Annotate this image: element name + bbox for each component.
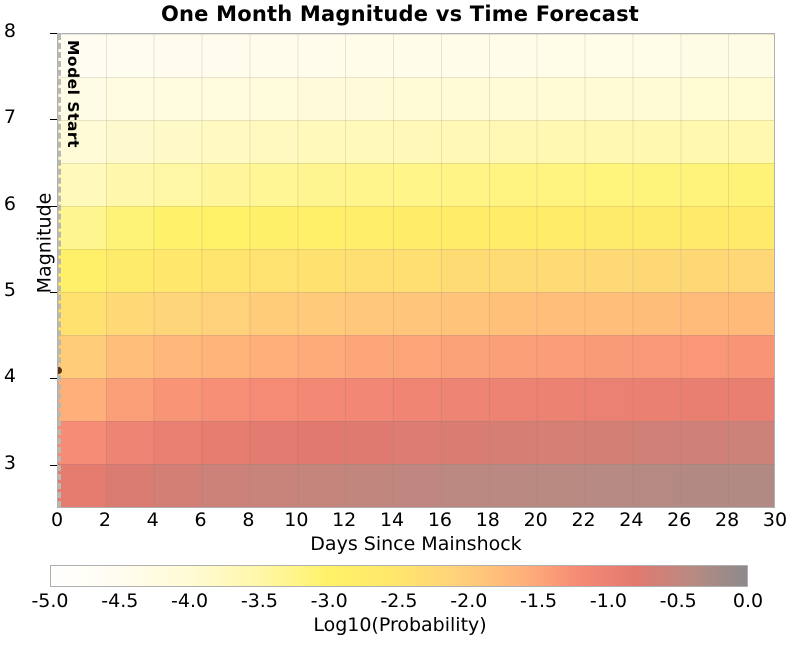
heatmap-cell <box>583 335 631 378</box>
heatmap-cell <box>344 249 392 292</box>
heatmap-cell <box>58 464 106 507</box>
heatmap-cell <box>631 34 679 77</box>
colorbar-tick-label: -5.0 <box>15 590 85 612</box>
heatmap-cell <box>58 421 106 464</box>
heatmap-plot-area: Model Start <box>57 33 775 508</box>
heatmap-cell <box>58 163 106 206</box>
heatmap-cell <box>344 421 392 464</box>
y-axis-tick-label: 6 <box>0 193 16 215</box>
heatmap-cell <box>631 77 679 120</box>
heatmap-cell <box>344 335 392 378</box>
colorbar-gradient <box>50 565 748 587</box>
heatmap-cell <box>535 77 583 120</box>
heatmap-cell <box>106 34 154 77</box>
heatmap-cell <box>249 34 297 77</box>
heatmap-cell <box>58 206 106 249</box>
colorbar-tick-label: -3.0 <box>294 590 364 612</box>
heatmap-cell <box>344 120 392 163</box>
heatmap-cell <box>392 292 440 335</box>
heatmap-cell <box>392 464 440 507</box>
heatmap-cell <box>488 249 536 292</box>
heatmap-cell <box>440 335 488 378</box>
heatmap-cell <box>249 249 297 292</box>
heatmap-cell <box>631 163 679 206</box>
heatmap-cell <box>679 249 727 292</box>
heatmap-cell <box>392 77 440 120</box>
heatmap-cells <box>58 34 774 507</box>
heatmap-cell <box>679 335 727 378</box>
heatmap-cell <box>488 77 536 120</box>
heatmap-cell <box>153 292 201 335</box>
heatmap-cell <box>535 120 583 163</box>
heatmap-cell <box>201 335 249 378</box>
y-axis-tick-mark <box>50 378 57 379</box>
heatmap-cell <box>631 464 679 507</box>
heatmap-cell <box>201 249 249 292</box>
heatmap-cell <box>440 77 488 120</box>
heatmap-cell <box>535 421 583 464</box>
heatmap-cell <box>392 206 440 249</box>
heatmap-cell <box>249 335 297 378</box>
heatmap-cell <box>583 120 631 163</box>
heatmap-cell <box>631 335 679 378</box>
y-axis-tick-mark <box>50 465 57 466</box>
heatmap-cell <box>153 34 201 77</box>
heatmap-cell <box>249 163 297 206</box>
heatmap-cell <box>440 378 488 421</box>
colorbar-tick-label: -1.5 <box>504 590 574 612</box>
heatmap-cell <box>297 77 345 120</box>
heatmap-cell <box>535 163 583 206</box>
heatmap-cell <box>440 34 488 77</box>
heatmap-cell <box>249 206 297 249</box>
heatmap-cell <box>440 421 488 464</box>
heatmap-cell <box>726 120 774 163</box>
y-axis-tick-mark <box>50 206 57 207</box>
colorbar-tick-label: -4.5 <box>85 590 155 612</box>
heatmap-cell <box>249 292 297 335</box>
heatmap-cell <box>488 206 536 249</box>
heatmap-cell <box>249 120 297 163</box>
heatmap-cell <box>726 292 774 335</box>
heatmap-cell <box>488 163 536 206</box>
heatmap-cell <box>488 292 536 335</box>
y-axis-tick-label: 7 <box>0 106 16 128</box>
heatmap-cell <box>106 249 154 292</box>
heatmap-cell <box>297 464 345 507</box>
heatmap-cell <box>201 292 249 335</box>
heatmap-cell <box>535 206 583 249</box>
heatmap-cell <box>726 163 774 206</box>
page-title: One Month Magnitude vs Time Forecast <box>0 2 800 26</box>
colorbar-tick-label: -0.5 <box>643 590 713 612</box>
colorbar-tick-label: 0.0 <box>713 590 783 612</box>
heatmap-cell <box>201 120 249 163</box>
heatmap-cell <box>344 163 392 206</box>
y-axis-tick-label: 8 <box>0 20 16 42</box>
heatmap-cell <box>153 421 201 464</box>
heatmap-cell <box>679 34 727 77</box>
heatmap-cell <box>344 464 392 507</box>
heatmap-cell <box>631 249 679 292</box>
heatmap-cell <box>583 34 631 77</box>
heatmap-cell <box>679 292 727 335</box>
heatmap-cell <box>153 163 201 206</box>
heatmap-cell <box>488 34 536 77</box>
heatmap-cell <box>631 120 679 163</box>
heatmap-cell <box>392 120 440 163</box>
heatmap-cell <box>344 206 392 249</box>
heatmap-cell <box>106 206 154 249</box>
heatmap-cell <box>583 77 631 120</box>
heatmap-cell <box>201 206 249 249</box>
heatmap-cell <box>297 292 345 335</box>
colorbar-tick-label: -3.5 <box>224 590 294 612</box>
heatmap-cell <box>535 292 583 335</box>
heatmap-cell <box>392 378 440 421</box>
heatmap-cell <box>535 34 583 77</box>
heatmap-cell <box>201 77 249 120</box>
heatmap-cell <box>344 378 392 421</box>
heatmap-cell <box>440 206 488 249</box>
colorbar <box>50 565 748 587</box>
heatmap-cell <box>106 464 154 507</box>
heatmap-cell <box>201 378 249 421</box>
heatmap-cell <box>344 77 392 120</box>
heatmap-cell <box>201 464 249 507</box>
x-axis-tick-label: 30 <box>745 509 800 531</box>
heatmap-cell <box>583 206 631 249</box>
heatmap-cell <box>249 77 297 120</box>
heatmap-cell <box>535 335 583 378</box>
heatmap-cell <box>488 378 536 421</box>
model-start-label: Model Start <box>64 40 82 148</box>
heatmap-cell <box>679 464 727 507</box>
heatmap-cell <box>535 249 583 292</box>
colorbar-tick-label: -2.5 <box>364 590 434 612</box>
heatmap-cell <box>58 292 106 335</box>
heatmap-cell <box>106 378 154 421</box>
heatmap-cell <box>726 464 774 507</box>
heatmap-cell <box>106 77 154 120</box>
heatmap-cell <box>488 421 536 464</box>
heatmap-cell <box>153 120 201 163</box>
chart-figure: One Month Magnitude vs Time Forecast Mag… <box>0 0 800 650</box>
heatmap-cell <box>297 378 345 421</box>
y-axis-tick-mark <box>50 33 57 34</box>
heatmap-cell <box>153 206 201 249</box>
heatmap-cell <box>679 206 727 249</box>
heatmap-cell <box>583 464 631 507</box>
heatmap-cell <box>631 378 679 421</box>
heatmap-cell <box>297 206 345 249</box>
colorbar-tick-label: -1.0 <box>573 590 643 612</box>
y-axis-tick-label: 5 <box>0 279 16 301</box>
heatmap-cell <box>631 421 679 464</box>
heatmap-cell <box>392 421 440 464</box>
heatmap-cell <box>726 34 774 77</box>
heatmap-cell <box>440 292 488 335</box>
colorbar-tick-label: -4.0 <box>155 590 225 612</box>
heatmap-cell <box>583 421 631 464</box>
heatmap-cell <box>249 464 297 507</box>
heatmap-cell <box>440 464 488 507</box>
y-axis-tick-label: 4 <box>0 365 16 387</box>
heatmap-cell <box>726 249 774 292</box>
heatmap-cell <box>726 206 774 249</box>
heatmap-cell <box>201 421 249 464</box>
heatmap-cell <box>153 378 201 421</box>
heatmap-cell <box>392 34 440 77</box>
heatmap-cell <box>297 249 345 292</box>
heatmap-cell <box>440 120 488 163</box>
heatmap-cell <box>58 249 106 292</box>
y-axis-tick-mark <box>50 292 57 293</box>
heatmap-cell <box>201 34 249 77</box>
y-axis-tick-mark <box>50 119 57 120</box>
heatmap-cell <box>106 421 154 464</box>
colorbar-tick-label: -2.0 <box>434 590 504 612</box>
heatmap-cell <box>583 292 631 335</box>
heatmap-cell <box>344 292 392 335</box>
heatmap-cell <box>392 335 440 378</box>
heatmap-cell <box>297 421 345 464</box>
heatmap-cell <box>392 249 440 292</box>
heatmap-cell <box>583 249 631 292</box>
heatmap-cell <box>631 206 679 249</box>
heatmap-cell <box>297 335 345 378</box>
y-axis-tick-label: 3 <box>0 452 16 474</box>
heatmap-cell <box>679 163 727 206</box>
heatmap-cell <box>488 335 536 378</box>
heatmap-cell <box>583 378 631 421</box>
heatmap-cell <box>392 163 440 206</box>
heatmap-cell <box>726 421 774 464</box>
y-axis-label: Magnitude <box>33 193 55 294</box>
heatmap-cell <box>679 120 727 163</box>
heatmap-cell <box>58 335 106 378</box>
heatmap-cell <box>106 163 154 206</box>
heatmap-cell <box>106 335 154 378</box>
heatmap-cell <box>535 464 583 507</box>
heatmap-cell <box>488 120 536 163</box>
heatmap-cell <box>297 34 345 77</box>
heatmap-cell <box>297 163 345 206</box>
heatmap-cell <box>583 163 631 206</box>
colorbar-label: Log10(Probability) <box>0 614 800 636</box>
model-start-line <box>58 34 61 507</box>
heatmap-cell <box>726 378 774 421</box>
heatmap-cell <box>153 464 201 507</box>
heatmap-cell <box>726 77 774 120</box>
heatmap-cell <box>201 163 249 206</box>
heatmap-cell <box>153 335 201 378</box>
heatmap-cell <box>153 77 201 120</box>
heatmap-cell <box>631 292 679 335</box>
heatmap-cell <box>679 421 727 464</box>
heatmap-cell <box>679 77 727 120</box>
heatmap-cell <box>153 249 201 292</box>
x-axis-label: Days Since Mainshock <box>57 533 775 555</box>
heatmap-cell <box>440 249 488 292</box>
heatmap-cell <box>535 378 583 421</box>
heatmap-cell <box>297 120 345 163</box>
heatmap-cell <box>488 464 536 507</box>
heatmap-cell <box>344 34 392 77</box>
heatmap-cell <box>249 421 297 464</box>
heatmap-cell <box>106 292 154 335</box>
heatmap-cell <box>106 120 154 163</box>
heatmap-cell <box>440 163 488 206</box>
heatmap-cell <box>249 378 297 421</box>
heatmap-cell <box>726 335 774 378</box>
heatmap-cell <box>58 378 106 421</box>
heatmap-cell <box>679 378 727 421</box>
